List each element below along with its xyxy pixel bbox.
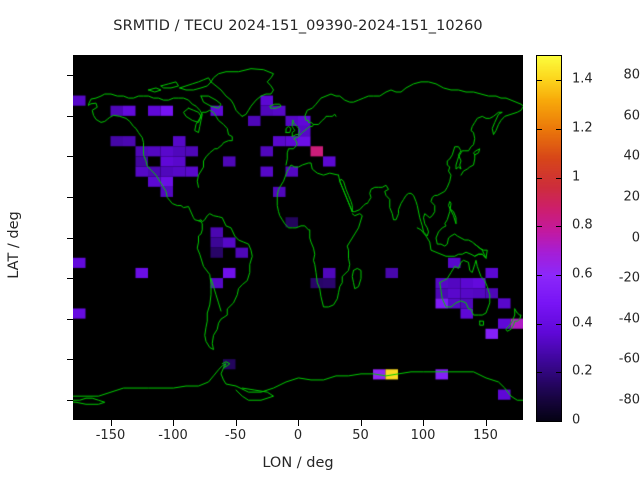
- colorbar-tick-mark: [556, 275, 561, 276]
- x-tick-label: -150: [76, 428, 146, 443]
- x-tick-label: -50: [201, 428, 271, 443]
- y-tick-label: -80: [578, 392, 640, 407]
- y-tick-mark: [67, 197, 73, 198]
- y-tick-mark: [67, 319, 73, 320]
- global-tec-heatmap-canvas[interactable]: [73, 55, 523, 420]
- colorbar-gradient: [537, 56, 561, 421]
- y-tick-label: 40: [578, 149, 640, 164]
- y-tick-mark: [67, 278, 73, 279]
- y-tick-mark: [67, 359, 73, 360]
- colorbar-tick-label: 1.2: [572, 121, 593, 136]
- colorbar-tick-mark: [537, 80, 542, 81]
- colorbar-tick-mark: [537, 324, 542, 325]
- x-tick-label: 0: [263, 428, 333, 443]
- colorbar-tick-label: 0.4: [572, 315, 593, 330]
- x-tick-mark: [361, 420, 362, 426]
- colorbar-tick-mark: [537, 178, 542, 179]
- x-tick-label: -100: [138, 428, 208, 443]
- colorbar-tick-mark: [556, 129, 561, 130]
- colorbar-tick-label: 0.6: [572, 267, 593, 282]
- x-tick-mark: [173, 420, 174, 426]
- colorbar-tick-mark: [556, 226, 561, 227]
- colorbar-tick-mark: [537, 421, 542, 422]
- colorbar-tick-label: 0.8: [572, 218, 593, 233]
- colorbar-tick-mark: [537, 226, 542, 227]
- x-tick-mark: [236, 420, 237, 426]
- x-tick-label: 100: [388, 428, 458, 443]
- colorbar-tick-mark: [556, 80, 561, 81]
- colorbar[interactable]: [536, 55, 562, 422]
- colorbar-tick-mark: [537, 275, 542, 276]
- map-plot-area[interactable]: [73, 55, 523, 420]
- x-tick-mark: [486, 420, 487, 426]
- x-tick-label: 150: [451, 428, 521, 443]
- tec-map-figure: SRMTID / TECU 2024-151_09390-2024-151_10…: [0, 0, 640, 480]
- y-tick-mark: [67, 75, 73, 76]
- x-tick-mark: [423, 420, 424, 426]
- y-tick-mark: [67, 238, 73, 239]
- y-tick-mark: [67, 116, 73, 117]
- colorbar-tick-mark: [556, 372, 561, 373]
- colorbar-tick-label: 0: [572, 413, 580, 428]
- colorbar-tick-mark: [556, 324, 561, 325]
- colorbar-tick-mark: [556, 421, 561, 422]
- y-tick-mark: [67, 400, 73, 401]
- y-axis-label: LAT / deg: [6, 155, 22, 335]
- colorbar-tick-label: 0.2: [572, 364, 593, 379]
- y-tick-mark: [67, 156, 73, 157]
- y-tick-label: 20: [578, 189, 640, 204]
- colorbar-tick-label: 1.4: [572, 72, 593, 87]
- colorbar-tick-label: 1: [572, 169, 580, 184]
- x-tick-mark: [111, 420, 112, 426]
- colorbar-tick-mark: [556, 178, 561, 179]
- x-tick-label: 50: [326, 428, 396, 443]
- x-tick-mark: [298, 420, 299, 426]
- page-title: SRMTID / TECU 2024-151_09390-2024-151_10…: [0, 18, 596, 34]
- colorbar-tick-mark: [537, 372, 542, 373]
- colorbar-tick-mark: [537, 129, 542, 130]
- x-axis-label: LON / deg: [73, 455, 523, 471]
